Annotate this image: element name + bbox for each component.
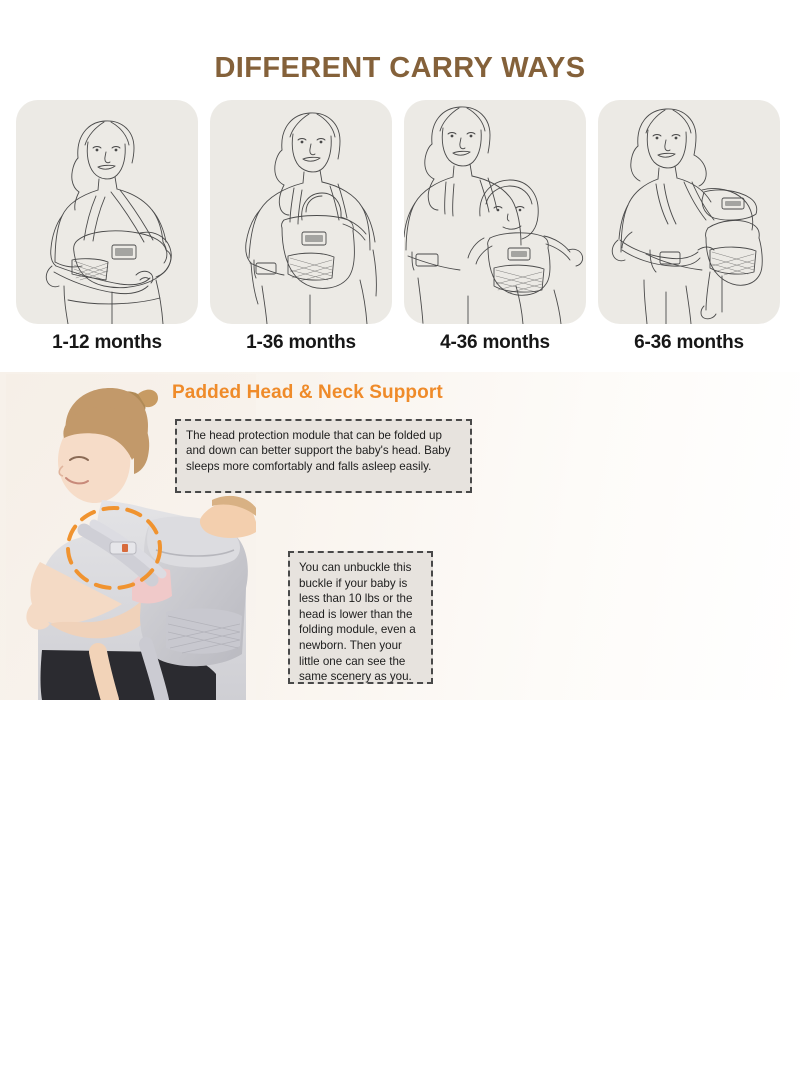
- carry-illustration-card-3: [404, 100, 586, 324]
- carry-ways-title: DIFFERENT CARRY WAYS: [0, 52, 800, 85]
- carry-illustration-card-4: [598, 100, 780, 324]
- head-support-callout-1: The head protection module that can be f…: [175, 419, 472, 493]
- carry-panel-label: 1-36 months: [210, 332, 392, 354]
- carry-illustration-card-2: [210, 100, 392, 324]
- carry-panel-label: 6-36 months: [598, 332, 780, 354]
- carry-illustration-card-1: [16, 100, 198, 324]
- mother-cradle-carry-lineart: [16, 100, 198, 324]
- carry-panel-label: 4-36 months: [404, 332, 586, 354]
- mother-front-inward-carry-lineart: [210, 100, 392, 324]
- mother-back-carry-lineart: [598, 100, 780, 324]
- carry-ways-grid: 1-12 months: [16, 100, 784, 332]
- carry-panel-label: 1-12 months: [16, 332, 198, 354]
- designed-by-parents-section: DESIGNED BY PARENTS, FOR PARENTS. The Ba…: [0, 700, 800, 1091]
- carry-panel: 1-36 months: [210, 100, 392, 332]
- head-support-title: Padded Head & Neck Support: [172, 382, 443, 404]
- mother-front-outward-carry-lineart: [404, 100, 586, 324]
- carry-panel: 1-12 months: [16, 100, 198, 332]
- carry-ways-section: DIFFERENT CARRY WAYS: [0, 0, 800, 372]
- carry-panel: 4-36 months: [404, 100, 586, 332]
- carry-panel: 6-36 months: [598, 100, 780, 332]
- head-support-callout-2: You can unbuckle this buckle if your bab…: [288, 551, 433, 684]
- product-infographic-page: DIFFERENT CARRY WAYS: [0, 0, 800, 1091]
